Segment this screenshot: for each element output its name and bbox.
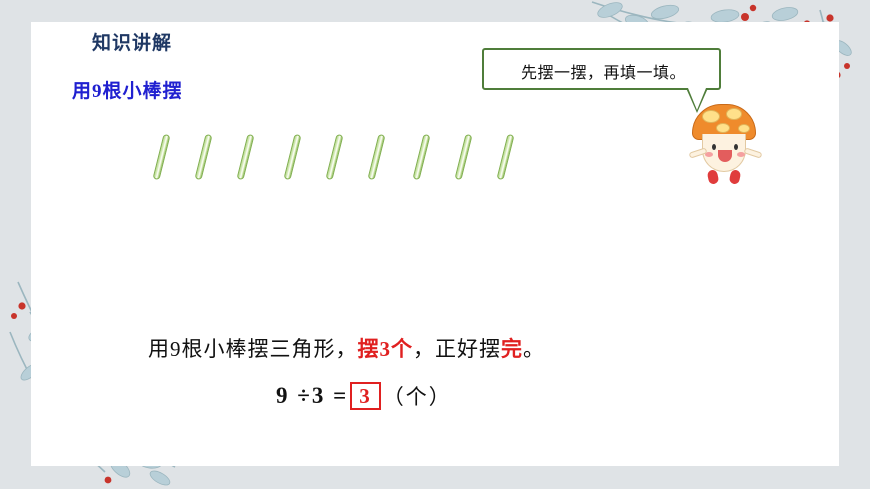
- leg-right: [729, 169, 742, 185]
- stick: [284, 134, 302, 180]
- slide-root: 知识讲解 用9根小棒摆 先摆一摆，再填一填。 用9根小: [0, 0, 870, 489]
- sentence-highlight-1: 摆3个: [358, 337, 414, 361]
- page-title: 知识讲解: [92, 28, 172, 55]
- mushroom-mascot-icon: [688, 104, 762, 196]
- subheading: 用9根小棒摆: [72, 76, 183, 103]
- stick: [455, 134, 473, 180]
- equation-left: 9 ÷3 =: [276, 383, 348, 409]
- sentence-part-3: 。: [523, 337, 545, 361]
- cap-spot: [716, 123, 730, 133]
- speech-bubble-tail-fill: [688, 88, 706, 110]
- arm-right: [744, 147, 763, 158]
- stick: [237, 134, 255, 180]
- stick: [195, 134, 213, 180]
- equation-answer-box[interactable]: 3: [350, 382, 381, 410]
- sentence-part-2: ，正好摆: [413, 337, 501, 361]
- speech-bubble-text: 先摆一摆，再填一填。: [484, 50, 723, 92]
- sentence-highlight-2: 完: [501, 337, 523, 361]
- stick-group: [150, 128, 570, 190]
- leg-left: [707, 169, 720, 185]
- stick: [413, 134, 431, 180]
- equation-unit: （个）: [383, 381, 452, 411]
- stick: [497, 134, 515, 180]
- eye-right: [734, 144, 738, 150]
- equation-row: 9 ÷3 = 3 （个）: [276, 381, 452, 411]
- cap-spot: [738, 124, 750, 133]
- sentence-part-1: 用9根小棒摆三角形，: [148, 337, 358, 361]
- summary-sentence: 用9根小棒摆三角形，摆3个，正好摆完。: [148, 333, 545, 363]
- stick: [326, 134, 344, 180]
- speech-bubble: 先摆一摆，再填一填。: [482, 48, 721, 90]
- cap-spot: [726, 108, 742, 120]
- stick: [368, 134, 386, 180]
- eye-left: [712, 144, 716, 150]
- stick: [153, 134, 171, 180]
